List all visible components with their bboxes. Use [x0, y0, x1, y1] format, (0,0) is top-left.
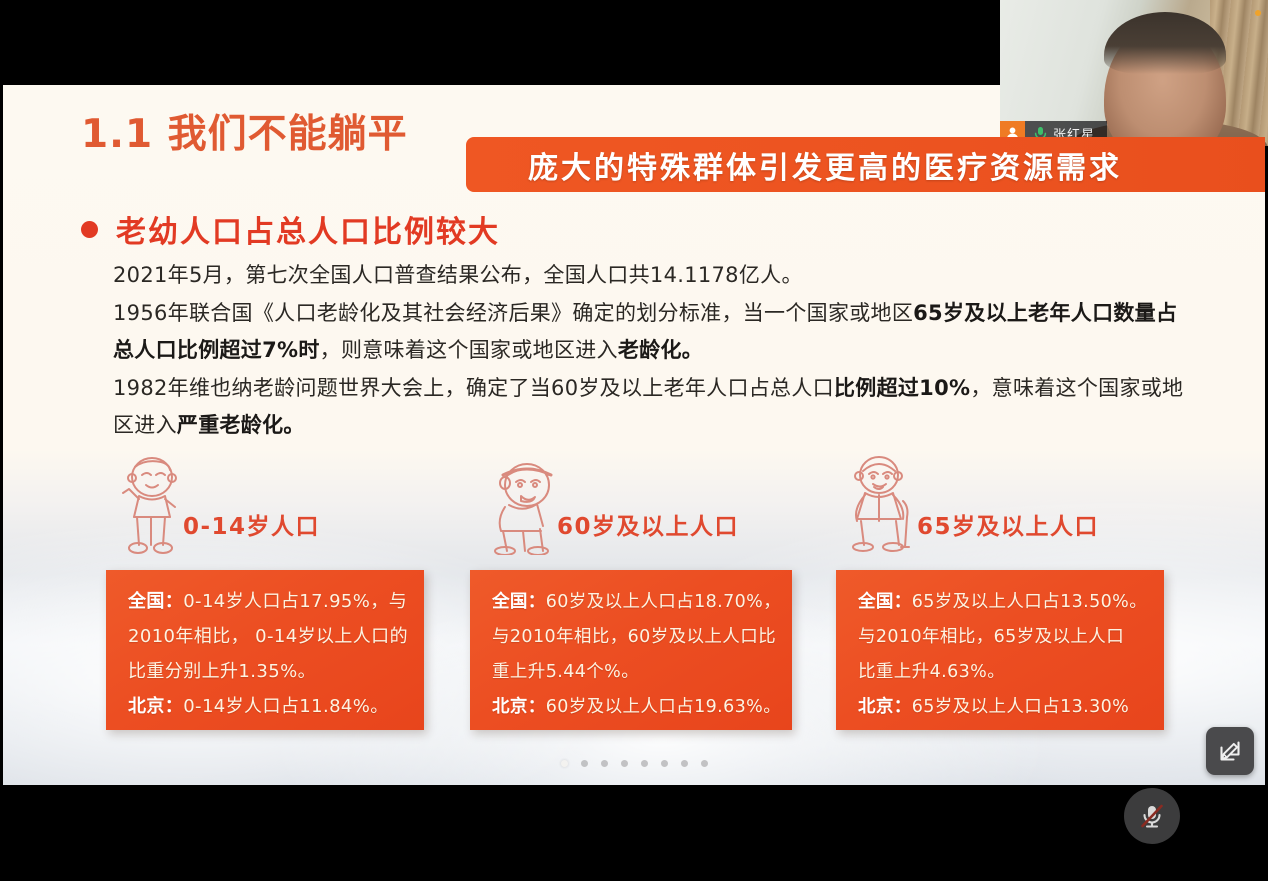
slide-header: 1.1 我们不能躺平 庞大的特殊群体引发更高的医疗资源需求: [3, 85, 1265, 163]
header-banner: 庞大的特殊群体引发更高的医疗资源需求: [466, 137, 1265, 192]
stat-card-line: 全国：65岁及以上人口占13.50%。: [858, 586, 1148, 618]
stat-card-line: 全国：0-14岁人口占17.95%，与: [128, 586, 408, 618]
stat-card-value: 65岁及以上人口占13.50%。: [912, 592, 1147, 612]
recording-indicator-dot: [1255, 10, 1261, 16]
stat-card-line: 重上升5.44个%。: [492, 656, 776, 688]
emphasis-text: 比例超过10%: [834, 376, 970, 400]
body-text: ，则意味着这个国家或地区进入: [320, 338, 618, 362]
bullet-dot-icon: [81, 221, 98, 238]
stat-card-line: 比重分别上升1.35%。: [128, 656, 408, 688]
stat-card-value: 与2010年相比，65岁及以上人口: [858, 627, 1124, 647]
stat-card: 全国：60岁及以上人口占18.70%，与2010年相比，60岁及以上人口比重上升…: [470, 570, 792, 730]
stat-card-region-label: 北京：: [492, 697, 546, 717]
stat-card-value: 比重分别上升1.35%。: [128, 661, 316, 682]
stat-card-region-label: 全国：: [858, 592, 912, 612]
pagination-dot[interactable]: [581, 760, 588, 767]
figure-elderly: 65岁及以上人口: [843, 455, 1099, 555]
stat-card-line: 北京：0-14岁人口占11.84%。: [128, 691, 408, 723]
stat-card-region-label: 全国：: [492, 592, 546, 612]
stat-card-line: 北京：65岁及以上人口占13.30%: [858, 691, 1148, 723]
figure-label: 0-14岁人口: [183, 507, 320, 555]
body-paragraphs: 2021年5月，第七次全国人口普查结果公布，全国人口共14.1178亿人。195…: [113, 257, 1188, 445]
stat-card-value: 0-14岁人口占17.95%，与: [183, 591, 407, 612]
emphasis-text: 老龄化。: [618, 338, 703, 362]
stat-card-line: 全国：60岁及以上人口占18.70%，: [492, 586, 776, 618]
figure-child: 0-14岁人口: [115, 455, 320, 555]
figure-middle-aged: 60岁及以上人口: [483, 455, 739, 555]
screen-share-viewport: 1.1 我们不能躺平 庞大的特殊群体引发更高的医疗资源需求 老幼人口占总人口比例…: [0, 0, 1268, 881]
body-text: 2021年5月，第七次全国人口普查结果公布，全国人口共14.1178亿人。: [113, 263, 803, 287]
stat-card-line: 比重上升4.63%。: [858, 656, 1148, 688]
microphone-muted-icon: [1137, 801, 1167, 831]
stat-card-region-label: 全国：: [128, 591, 183, 612]
stat-card-line: 与2010年相比，65岁及以上人口: [858, 621, 1148, 653]
stat-card: 全国：65岁及以上人口占13.50%。与2010年相比，65岁及以上人口比重上升…: [836, 570, 1164, 730]
stat-card-value: 60岁及以上人口占18.70%，: [546, 592, 781, 612]
presentation-slide[interactable]: 1.1 我们不能躺平 庞大的特殊群体引发更高的医疗资源需求 老幼人口占总人口比例…: [3, 85, 1265, 785]
paragraph-p2: 1956年联合国《人口老龄化及其社会经济后果》确定的划分标准，当一个国家或地区6…: [113, 295, 1188, 369]
pagination-dot[interactable]: [701, 760, 708, 767]
stat-card-region-label: 北京：: [858, 697, 912, 717]
figure-label: 60岁及以上人口: [557, 507, 739, 555]
paragraph-p3: 1982年维也纳老龄问题世界大会上，确定了当60岁及以上老年人口占总人口比例超过…: [113, 370, 1188, 444]
stat-card-row: 全国：0-14岁人口占17.95%，与2010年相比， 0-14岁以上人口的比重…: [3, 570, 1265, 735]
pagination-dot[interactable]: [601, 760, 608, 767]
pagination-dot[interactable]: [561, 760, 568, 767]
stat-card-value: 0-14岁人口占11.84%。: [183, 696, 389, 717]
body-text: 1982年维也纳老龄问题世界大会上，确定了当60岁及以上老年人口占总人口: [113, 376, 834, 400]
section-number-title: 1.1 我们不能躺平: [81, 103, 408, 159]
emphasis-text: 严重老龄化。: [177, 413, 305, 437]
stat-card-value: 2010年相比， 0-14岁以上人口的: [128, 626, 408, 647]
stat-card-line: 北京：60岁及以上人口占19.63%。: [492, 691, 776, 723]
stat-card-value: 比重上升4.63%。: [858, 662, 1005, 682]
pagination-dot[interactable]: [661, 760, 668, 767]
figure-label: 65岁及以上人口: [917, 507, 1099, 555]
stat-card-value: 60岁及以上人口占19.63%。: [546, 697, 781, 717]
bullet-heading: 老幼人口占总人口比例较大: [81, 207, 500, 251]
elderly-figure-icon: [843, 455, 923, 555]
stat-card-value: 65岁及以上人口占13.30%: [912, 697, 1130, 717]
pagination-dot[interactable]: [681, 760, 688, 767]
stat-card: 全国：0-14岁人口占17.95%，与2010年相比， 0-14岁以上人口的比重…: [106, 570, 424, 730]
figure-row: 0-14岁人口: [3, 455, 1265, 565]
body-text: 1956年联合国《人口老龄化及其社会经济后果》确定的划分标准，当一个国家或地区: [113, 301, 913, 325]
stat-card-value: 重上升5.44个%。: [492, 662, 639, 682]
pagination-dot[interactable]: [621, 760, 628, 767]
middle-aged-figure-icon: [483, 455, 563, 555]
slide-pagination[interactable]: [3, 760, 1265, 767]
bullet-heading-label: 老幼人口占总人口比例较大: [116, 207, 500, 251]
header-banner-title: 庞大的特殊群体引发更高的医疗资源需求: [466, 143, 1122, 187]
paragraph-p1: 2021年5月，第七次全国人口普查结果公布，全国人口共14.1178亿人。: [113, 257, 1188, 294]
child-figure-icon: [115, 455, 189, 555]
stat-card-region-label: 北京：: [128, 696, 183, 717]
pagination-dot[interactable]: [641, 760, 648, 767]
stat-card-line: 2010年相比， 0-14岁以上人口的: [128, 621, 408, 653]
stat-card-line: 与2010年相比，60岁及以上人口比: [492, 621, 776, 653]
stat-card-value: 与2010年相比，60岁及以上人口比: [492, 627, 776, 647]
mic-muted-indicator[interactable]: [1124, 788, 1180, 844]
